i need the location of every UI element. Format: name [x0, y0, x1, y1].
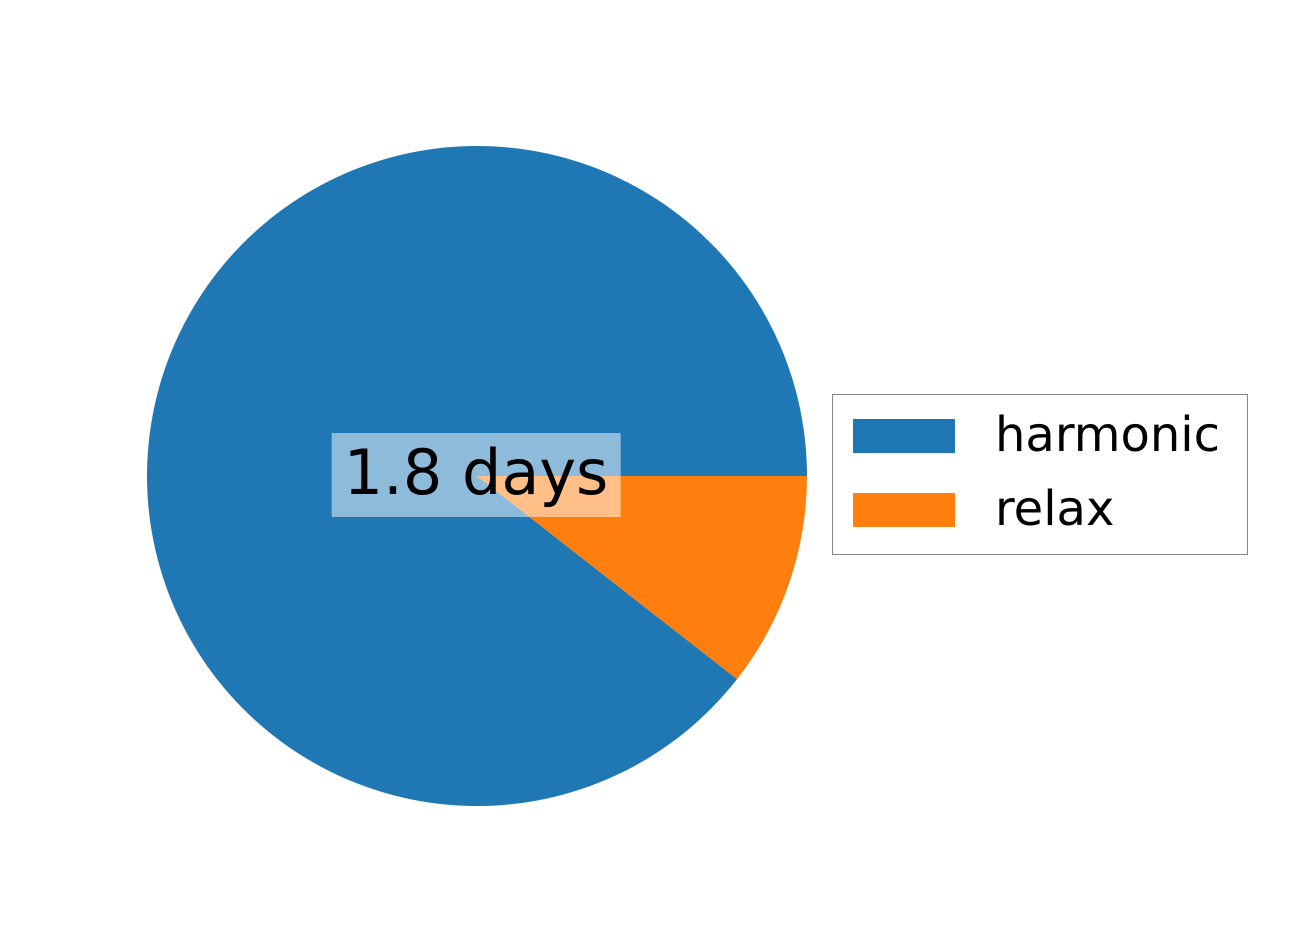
pie-chart-figure: 1.8 days harmonic relax — [0, 0, 1307, 951]
legend: harmonic relax — [832, 394, 1248, 555]
legend-entry-relax[interactable]: relax — [833, 395, 1247, 455]
legend-swatch-relax-icon — [853, 493, 955, 527]
legend-label-relax: relax — [995, 485, 1114, 533]
pie-slice-label-harmonic: 1.8 days — [332, 433, 621, 517]
